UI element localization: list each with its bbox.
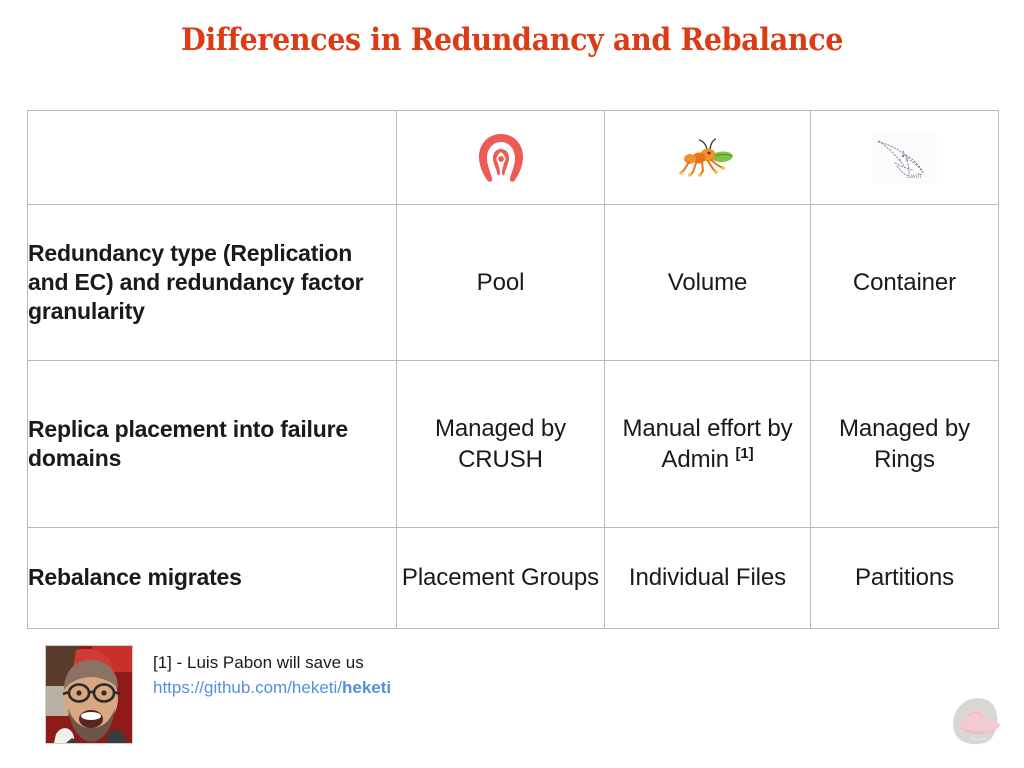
footnote-reference-text: [1] - Luis Pabon will save us xyxy=(153,651,391,676)
header-cell-gluster xyxy=(605,111,811,205)
header-cell-ceph xyxy=(397,111,605,205)
cell-swift: Container xyxy=(811,205,999,361)
cell-swift: Partitions xyxy=(811,528,999,629)
table-row: Rebalance migrates Placement Groups Indi… xyxy=(28,528,999,629)
cell-gluster-text: Manual effort by Admin xyxy=(622,415,792,473)
comparison-table: Swift Redundancy type (Replication and E… xyxy=(27,110,999,629)
speaker-photo xyxy=(45,645,133,744)
ceph-octopus-icon xyxy=(475,130,527,186)
footnote-marker: [1] xyxy=(736,445,754,462)
table-row: Replica placement into failure domains M… xyxy=(28,361,999,528)
swift-bird-icon: Swift xyxy=(873,133,937,183)
cell-ceph: Managed by CRUSH xyxy=(397,361,605,528)
heketi-link-bold: heketi xyxy=(342,678,391,697)
header-cell-blank xyxy=(28,111,397,205)
header-cell-swift: Swift xyxy=(811,111,999,205)
heketi-link-prefix: https://github.com/heketi/ xyxy=(153,678,342,697)
row-label: Redundancy type (Replication and EC) and… xyxy=(28,205,397,361)
svg-text:Swift: Swift xyxy=(907,173,922,180)
row-label: Rebalance migrates xyxy=(28,528,397,629)
table-header-row: Swift xyxy=(28,111,999,205)
cell-ceph: Pool xyxy=(397,205,605,361)
cell-gluster: Volume xyxy=(605,205,811,361)
cell-gluster: Individual Files xyxy=(605,528,811,629)
red-hat-shadowman-logo xyxy=(948,696,1006,746)
table-row: Redundancy type (Replication and EC) and… xyxy=(28,205,999,361)
row-label: Replica placement into failure domains xyxy=(28,361,397,528)
cell-ceph: Placement Groups xyxy=(397,528,605,629)
cell-swift: Managed by Rings xyxy=(811,361,999,528)
gluster-ant-icon xyxy=(675,134,741,182)
page-title: Differences in Redundancy and Rebalance xyxy=(41,22,983,58)
heketi-link[interactable]: https://github.com/heketi/heketi xyxy=(153,676,391,701)
cell-gluster: Manual effort by Admin [1] xyxy=(605,361,811,528)
footnote-block: [1] - Luis Pabon will save us https://gi… xyxy=(45,645,391,744)
